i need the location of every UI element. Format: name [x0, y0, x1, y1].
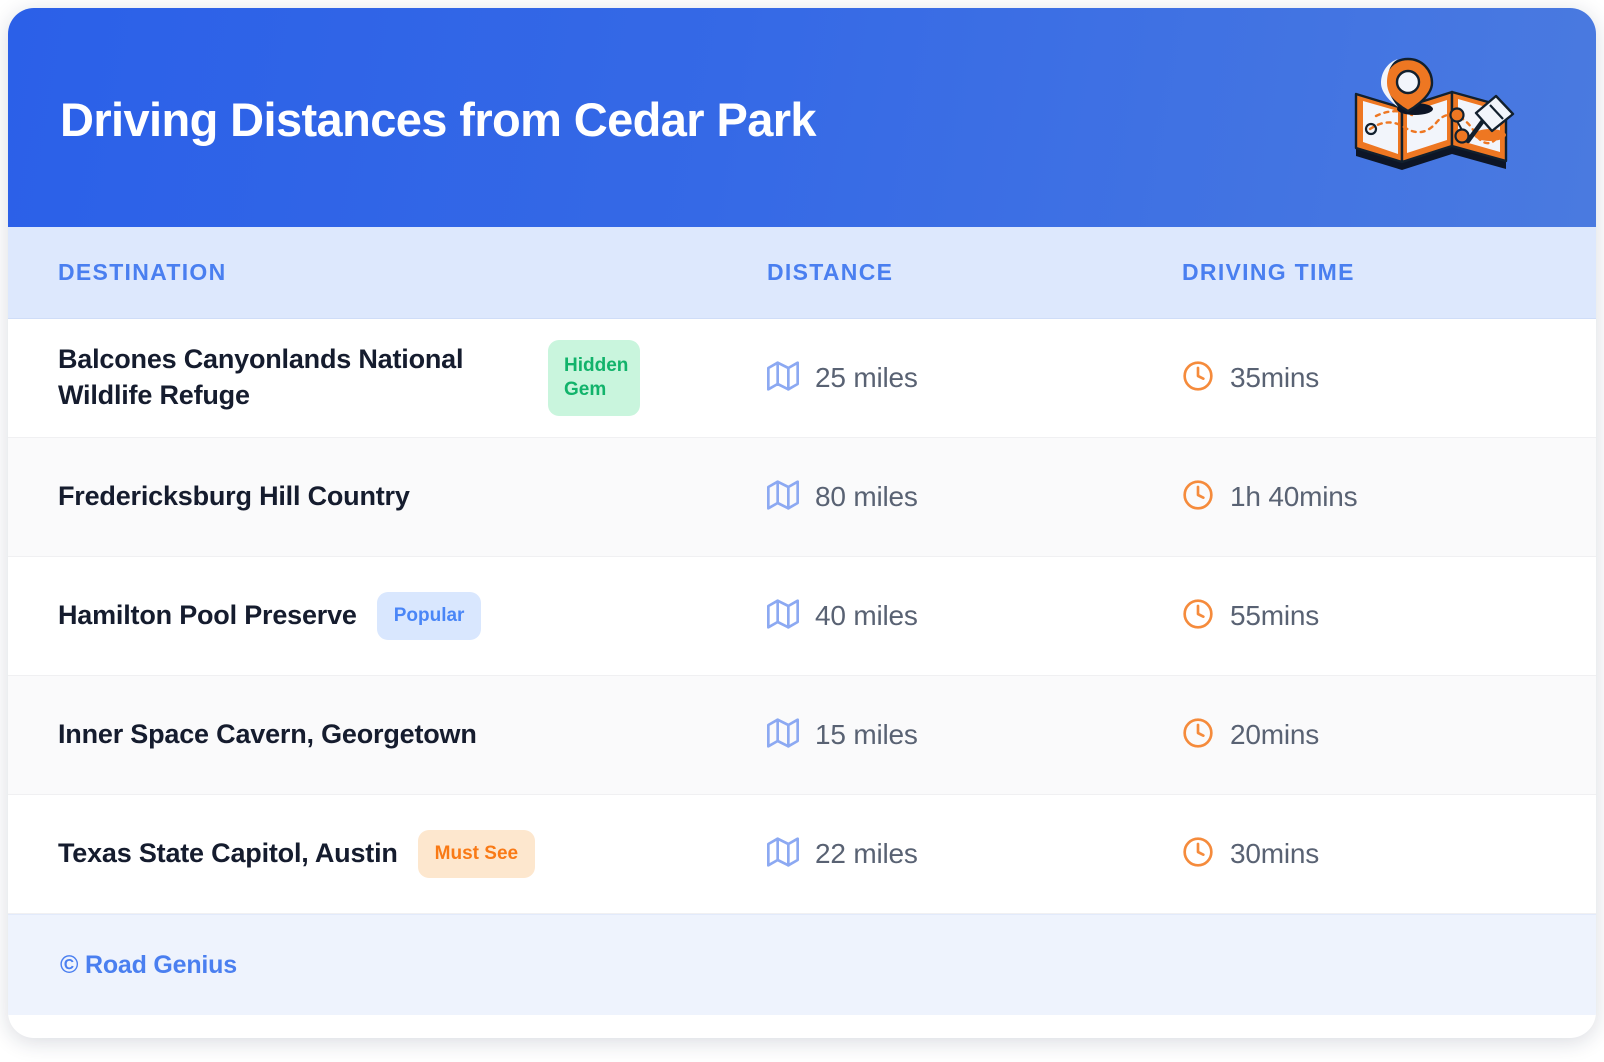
card-footer: © Road Genius: [8, 914, 1596, 1015]
map-icon: [767, 479, 799, 516]
table-column-header: DESTINATION DISTANCE DRIVING TIME: [8, 227, 1596, 319]
table-row[interactable]: Inner Space Cavern, Georgetown 15 miles …: [8, 676, 1596, 795]
driving-time-value: 55mins: [1230, 600, 1319, 632]
destination-cell: Balcones Canyonlands National Wildlife R…: [8, 340, 743, 417]
distance-value: 40 miles: [815, 600, 918, 632]
clock-icon: [1182, 717, 1214, 754]
table-row[interactable]: Texas State Capitol, Austin Must See 22 …: [8, 795, 1596, 914]
distances-card: Driving Distances from Cedar Park: [8, 8, 1596, 1038]
clock-icon: [1182, 836, 1214, 873]
driving-time-cell: 30mins: [1160, 836, 1596, 873]
destination-name: Hamilton Pool Preserve: [58, 598, 357, 634]
map-icon: [767, 717, 799, 754]
destination-cell: Hamilton Pool Preserve Popular: [8, 592, 743, 640]
driving-time-cell: 1h 40mins: [1160, 479, 1596, 516]
distance-cell: 25 miles: [743, 360, 1160, 397]
driving-time-value: 30mins: [1230, 838, 1319, 870]
destination-name: Fredericksburg Hill Country: [58, 479, 410, 515]
map-icon: [767, 598, 799, 635]
column-header-distance: DISTANCE: [743, 259, 1160, 286]
copyright-label: © Road Genius: [60, 951, 237, 980]
driving-time-value: 1h 40mins: [1230, 481, 1357, 513]
distance-value: 22 miles: [815, 838, 918, 870]
distance-cell: 22 miles: [743, 836, 1160, 873]
driving-time-cell: 35mins: [1160, 360, 1596, 397]
card-header: Driving Distances from Cedar Park: [8, 8, 1596, 227]
driving-time-cell: 55mins: [1160, 598, 1596, 635]
table-row[interactable]: Hamilton Pool Preserve Popular 40 miles …: [8, 557, 1596, 676]
folded-map-with-pin-illustration: [1340, 53, 1540, 183]
map-icon: [767, 836, 799, 873]
table-row[interactable]: Balcones Canyonlands National Wildlife R…: [8, 319, 1596, 438]
driving-time-value: 35mins: [1230, 362, 1319, 394]
status-badge: Hidden Gem: [548, 340, 640, 417]
destination-cell: Inner Space Cavern, Georgetown: [8, 717, 743, 753]
status-badge: Popular: [377, 592, 482, 640]
clock-icon: [1182, 479, 1214, 516]
distance-value: 80 miles: [815, 481, 918, 513]
distance-cell: 15 miles: [743, 717, 1160, 754]
clock-icon: [1182, 360, 1214, 397]
map-icon: [767, 360, 799, 397]
status-badge: Must See: [418, 830, 535, 878]
table-row[interactable]: Fredericksburg Hill Country 80 miles 1h …: [8, 438, 1596, 557]
destination-cell: Fredericksburg Hill Country: [8, 479, 743, 515]
distance-value: 25 miles: [815, 362, 918, 394]
column-header-driving-time: DRIVING TIME: [1160, 259, 1596, 286]
distance-value: 15 miles: [815, 719, 918, 751]
driving-time-cell: 20mins: [1160, 717, 1596, 754]
destination-cell: Texas State Capitol, Austin Must See: [8, 830, 743, 878]
driving-time-value: 20mins: [1230, 719, 1319, 751]
distance-cell: 40 miles: [743, 598, 1160, 635]
clock-icon: [1182, 598, 1214, 635]
page-title: Driving Distances from Cedar Park: [60, 90, 1340, 146]
distance-cell: 80 miles: [743, 479, 1160, 516]
destination-name: Inner Space Cavern, Georgetown: [58, 717, 477, 753]
destination-name: Texas State Capitol, Austin: [58, 836, 398, 872]
destination-name: Balcones Canyonlands National Wildlife R…: [58, 342, 528, 413]
column-header-destination: DESTINATION: [8, 259, 743, 286]
